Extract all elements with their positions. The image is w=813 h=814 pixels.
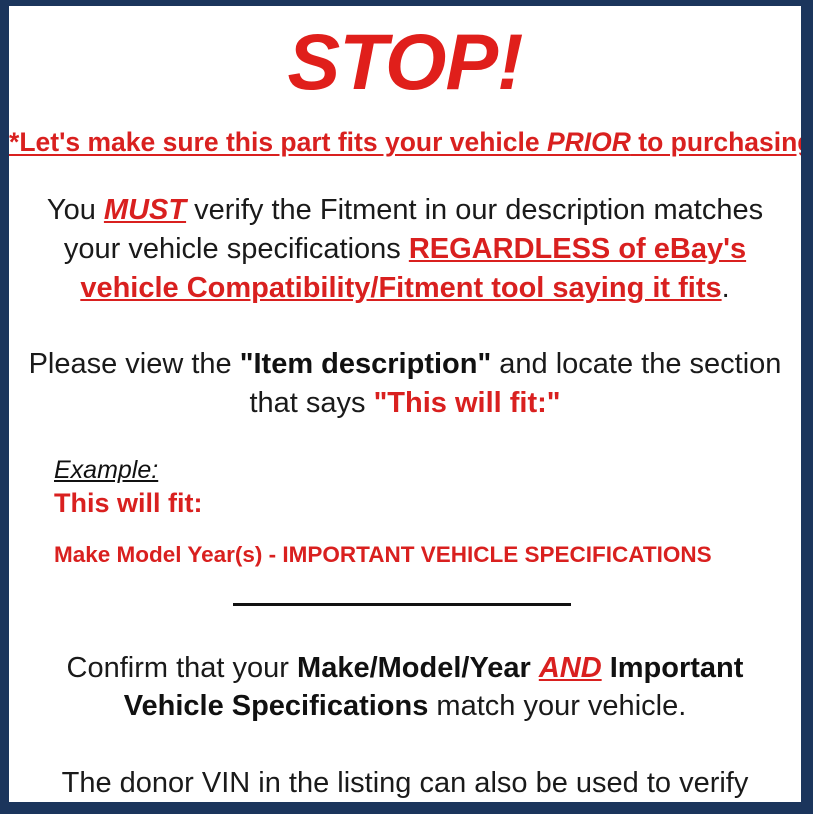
confirm-part1: Confirm that your <box>67 652 297 684</box>
view-part1: Please view the <box>29 348 240 380</box>
confirm-part3: match your vehicle. <box>428 690 686 722</box>
this-will-fit-emphasis: "This will fit:" <box>374 387 561 419</box>
example-spec-line: Make Model Year(s) - IMPORTANT VEHICLE S… <box>54 542 801 568</box>
tagline-emphasis-prior: PRIOR <box>547 127 631 157</box>
make-model-year-emphasis: Make/Model/Year <box>297 652 539 684</box>
page-title: STOP! <box>9 22 801 101</box>
must-part1: You <box>47 194 104 226</box>
tagline-part1: *Let's make sure this part fits your veh… <box>9 127 547 157</box>
notice-card: STOP! *Let's make sure this part fits yo… <box>9 6 801 802</box>
donor-vin-paragraph: The donor VIN in the listing can also be… <box>9 764 801 802</box>
confirm-paragraph: Confirm that your Make/Model/Year AND Im… <box>9 649 801 726</box>
tagline-part2: to purchasing* <box>631 127 801 157</box>
item-description-paragraph: Please view the "Item description" and l… <box>9 345 801 422</box>
and-emphasis: AND <box>539 652 602 684</box>
section-divider <box>233 603 571 606</box>
example-label: Example: <box>54 456 158 486</box>
must-emphasis: MUST <box>104 194 186 226</box>
notice-border-frame: STOP! *Let's make sure this part fits yo… <box>0 0 813 814</box>
example-fit-heading: This will fit: <box>54 488 801 519</box>
item-description-emphasis: "Item description" <box>240 348 491 380</box>
must-verify-paragraph: You MUST verify the Fitment in our descr… <box>9 191 801 307</box>
example-block: Example: This will fit: Make Model Year(… <box>9 456 801 567</box>
tagline: *Let's make sure this part fits your veh… <box>9 127 801 157</box>
divider-wrap <box>9 593 801 611</box>
must-part3: . <box>722 272 730 304</box>
